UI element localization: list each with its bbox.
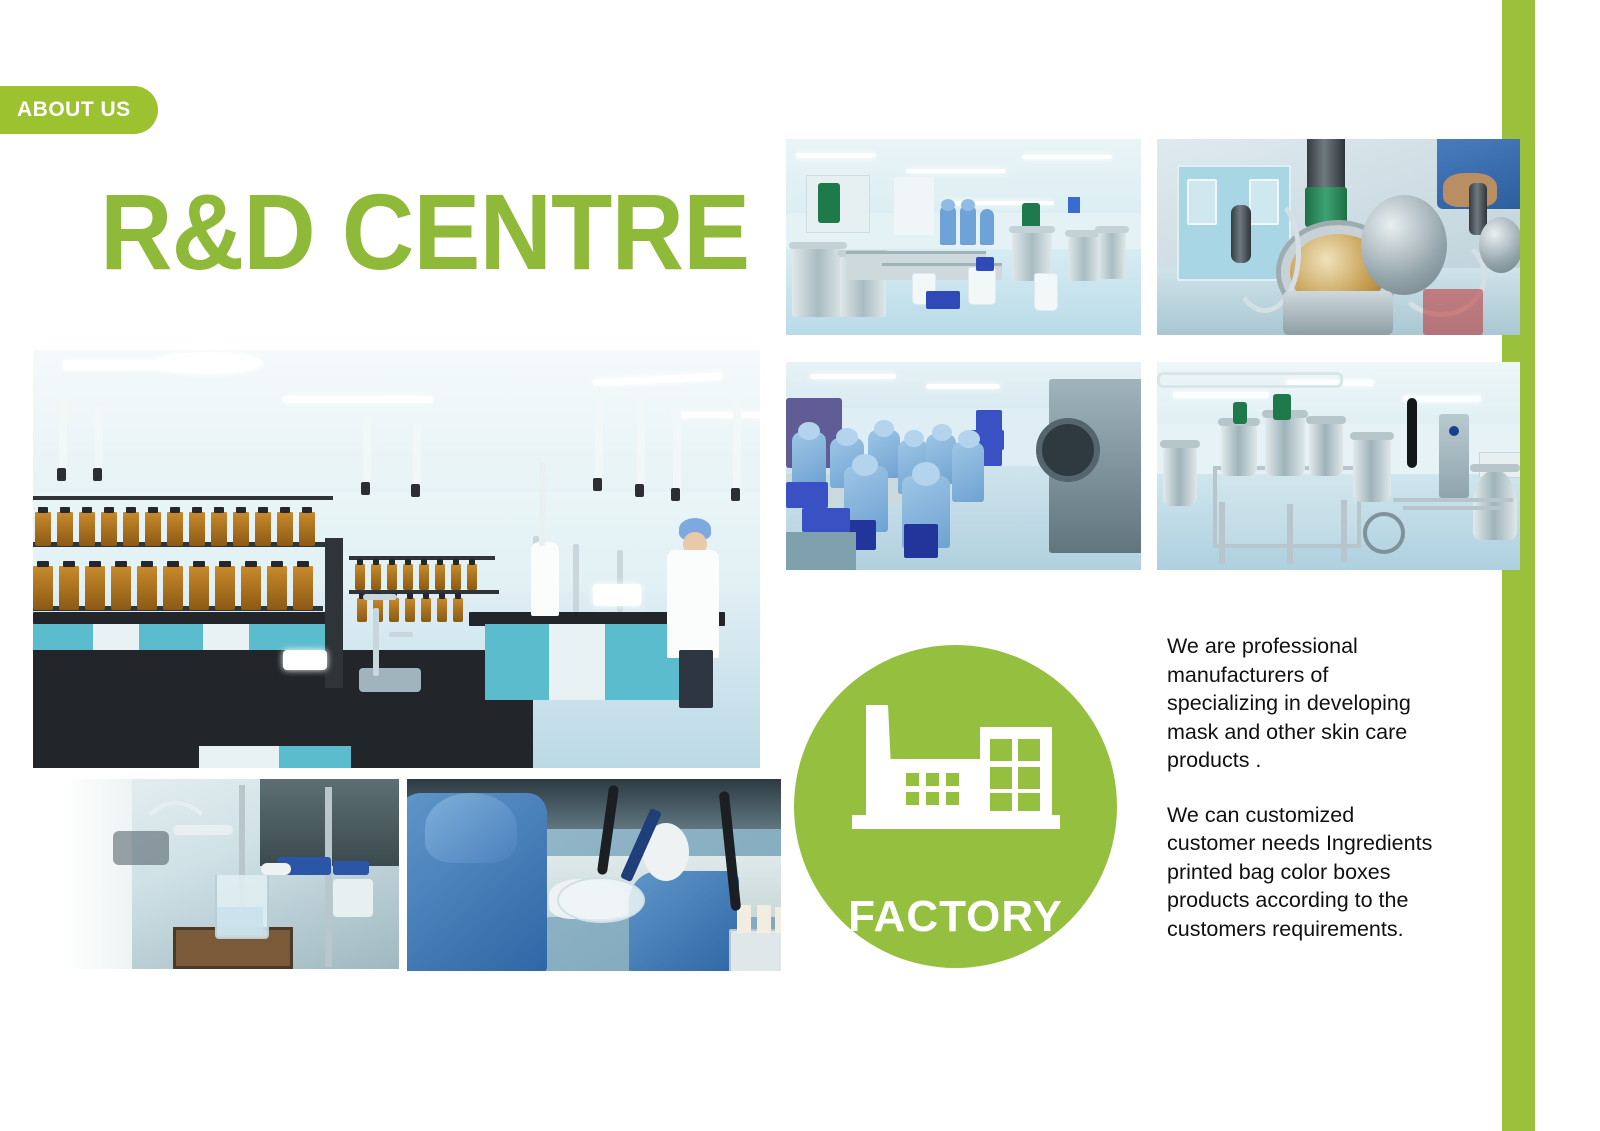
- photo-mixer: [1157, 139, 1520, 335]
- photo-vessels: [1157, 362, 1520, 570]
- factory-badge: FACTORY: [794, 645, 1117, 968]
- beaker-scene: [33, 779, 399, 969]
- photo-pipette: [407, 779, 781, 971]
- photo-workers: [786, 362, 1141, 570]
- page-title: R&D CENTRE: [100, 178, 749, 286]
- factory-badge-label: FACTORY: [794, 892, 1117, 942]
- copy-paragraph-2: We can customized customer needs Ingredi…: [1167, 801, 1445, 944]
- photo-beaker: [33, 779, 399, 969]
- about-us-tab[interactable]: ABOUT US: [0, 86, 158, 134]
- vessels-scene: [1157, 362, 1520, 570]
- lab-main-scene: [33, 350, 760, 768]
- photo-cleanroom: [786, 139, 1141, 335]
- pipette-scene: [407, 779, 781, 971]
- workers-scene: [786, 362, 1141, 570]
- about-copy: We are professional manufacturers of spe…: [1167, 632, 1445, 969]
- factory-icon: [844, 693, 1068, 843]
- about-us-tab-label: ABOUT US: [0, 98, 131, 122]
- cleanroom-scene: [786, 139, 1141, 335]
- photo-lab-main: [33, 350, 760, 768]
- copy-paragraph-1: We are professional manufacturers of spe…: [1167, 632, 1445, 775]
- mixer-scene: [1157, 139, 1520, 335]
- about-us-page: ABOUT US R&D CENTRE: [0, 0, 1600, 1131]
